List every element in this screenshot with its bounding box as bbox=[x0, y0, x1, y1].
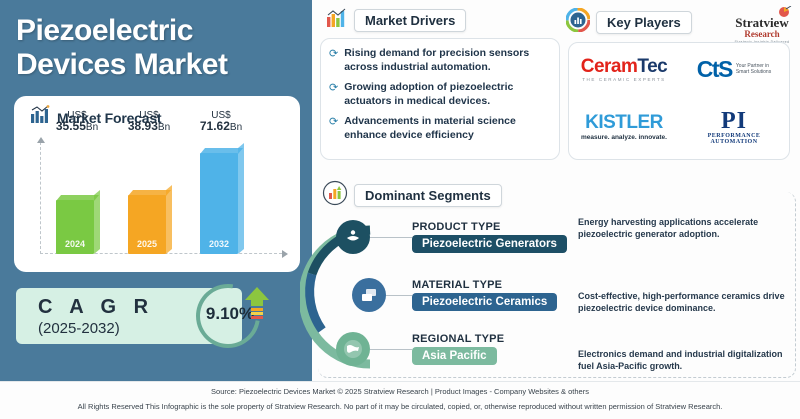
segment-text-block: MATERIAL TYPEPiezoelectric Ceramics bbox=[412, 279, 557, 311]
refresh-bullet-icon: ⟳ bbox=[329, 115, 338, 142]
ceramtec-tagline: THE CERAMIC EXPERTS bbox=[581, 78, 668, 83]
cts-tagline: Your Partner inSmart Solutions bbox=[736, 63, 771, 76]
segment-text-block: PRODUCT TYPEPiezoelectric Generators bbox=[412, 221, 567, 253]
page-title: Piezoelectric Devices Market bbox=[0, 0, 312, 87]
market-forecast-card: Market Forecast US$35.55Bn2024US$38.93Bn… bbox=[14, 96, 300, 272]
bar-chart-icon bbox=[30, 105, 50, 130]
segment-description: Electronics demand and industrial digita… bbox=[578, 348, 788, 372]
bar-value-label: US$38.93Bn bbox=[128, 110, 170, 133]
driver-item: ⟳Rising demand for precision sensors acr… bbox=[329, 47, 549, 74]
segment-kicker: PRODUCT TYPE bbox=[412, 221, 567, 233]
refresh-bullet-icon: ⟳ bbox=[329, 81, 338, 108]
cts-mark: CtS bbox=[697, 58, 732, 81]
segment-description: Energy harvesting applications accelerat… bbox=[578, 216, 788, 240]
key-players-label: Key Players bbox=[596, 11, 692, 34]
stratview-sub: Research bbox=[732, 29, 792, 39]
stratview-logo: Stratview Research Strategic Insights De… bbox=[732, 6, 792, 44]
market-drivers-label: Market Drivers bbox=[354, 9, 466, 32]
segment-kicker: REGIONAL TYPE bbox=[412, 333, 504, 345]
bar-value-label: US$71.62Bn bbox=[200, 110, 242, 133]
driver-item: ⟳Advancements in material science enhanc… bbox=[329, 115, 549, 142]
segment-connector bbox=[386, 295, 412, 296]
segment-description: Cost-effective, high-performance ceramic… bbox=[578, 290, 788, 314]
segment-text-block: REGIONAL TYPEAsia Pacific bbox=[412, 333, 504, 365]
chart-y-axis bbox=[40, 142, 41, 254]
segment-connector bbox=[370, 237, 412, 238]
bar-body: 2032 bbox=[200, 153, 238, 254]
title-line-1: Piezoelectric bbox=[16, 14, 296, 48]
growth-arrow-icon bbox=[244, 286, 270, 326]
driver-text: Rising demand for precision sensors acro… bbox=[344, 47, 549, 74]
driver-text: Advancements in material science enhance… bbox=[344, 115, 549, 142]
driver-item: ⟳Growing adoption of piezoelectric actua… bbox=[329, 81, 549, 108]
driver-text: Growing adoption of piezoelectric actuat… bbox=[344, 81, 549, 108]
material-layers-icon bbox=[352, 278, 386, 312]
logo-cts: CtS Your Partner inSmart Solutions bbox=[697, 58, 771, 81]
market-drivers-card: ⟳Rising demand for precision sensors acr… bbox=[320, 38, 560, 160]
footer: Source: Piezoelectric Devices Market © 2… bbox=[0, 381, 800, 419]
stratview-name: Stratview bbox=[732, 16, 792, 29]
chart-bar: US$71.62Bn2032 bbox=[200, 136, 242, 254]
segment-chip: Asia Pacific bbox=[412, 347, 497, 365]
bar-body: 2025 bbox=[128, 195, 166, 254]
chart-bar: US$38.93Bn2025 bbox=[128, 136, 170, 254]
forecast-bar-chart: US$35.55Bn2024US$38.93Bn2025US$71.62Bn20… bbox=[28, 136, 290, 268]
infographic-canvas: Piezoelectric Devices Market Market Fore… bbox=[0, 0, 800, 419]
bar-year-label: 2025 bbox=[128, 239, 166, 249]
ceramtec-prefix: Ceram bbox=[581, 56, 638, 77]
logo-pi: PI PERFORMANCE AUTOMATION bbox=[708, 109, 761, 145]
bar-body: 2024 bbox=[56, 200, 94, 254]
bar-value-label: US$35.55Bn bbox=[56, 110, 98, 133]
footer-divider bbox=[0, 381, 800, 382]
logo-ceramtec: CeramTec THE CERAMIC EXPERTS bbox=[581, 57, 668, 83]
key-players-card: CeramTec THE CERAMIC EXPERTS CtS Your Pa… bbox=[568, 42, 790, 160]
logo-kistler: KISTLER measure. analyze. innovate. bbox=[581, 113, 667, 142]
key-players-badge: Key Players bbox=[566, 8, 692, 37]
bar-year-label: 2032 bbox=[200, 239, 238, 249]
segment-connector bbox=[370, 349, 412, 350]
kistler-mark: KISTLER bbox=[581, 113, 667, 132]
refresh-bullet-icon: ⟳ bbox=[329, 47, 338, 74]
ceramtec-accent: Tec bbox=[637, 56, 667, 77]
market-drivers-badge: Market Drivers bbox=[326, 8, 466, 33]
kistler-tagline: measure. analyze. innovate. bbox=[581, 135, 667, 142]
footer-source: Source: Piezoelectric Devices Market © 2… bbox=[0, 381, 800, 396]
chart-bars: US$35.55Bn2024US$38.93Bn2025US$71.62Bn20… bbox=[56, 136, 280, 254]
segment-kicker: MATERIAL TYPE bbox=[412, 279, 557, 291]
bar-year-label: 2024 bbox=[56, 239, 94, 249]
pi-mark: PI bbox=[708, 109, 761, 133]
growth-chart-icon bbox=[326, 8, 348, 33]
segment-chip: Piezoelectric Generators bbox=[412, 235, 567, 253]
pi-tagline-2: AUTOMATION bbox=[708, 139, 761, 145]
chart-bar: US$35.55Bn2024 bbox=[56, 136, 98, 254]
segment-row: REGIONAL TYPEAsia Pacific bbox=[336, 332, 504, 366]
title-line-2: Devices Market bbox=[16, 48, 296, 82]
footer-rights: All Rights Reserved This Infographic is … bbox=[0, 396, 800, 411]
generator-icon bbox=[336, 220, 370, 254]
globe-icon bbox=[336, 332, 370, 366]
segment-chip: Piezoelectric Ceramics bbox=[412, 293, 557, 311]
pie-chart-icon bbox=[566, 8, 590, 37]
segment-row: PRODUCT TYPEPiezoelectric Generators bbox=[336, 220, 567, 254]
segment-row: MATERIAL TYPEPiezoelectric Ceramics bbox=[352, 278, 557, 312]
